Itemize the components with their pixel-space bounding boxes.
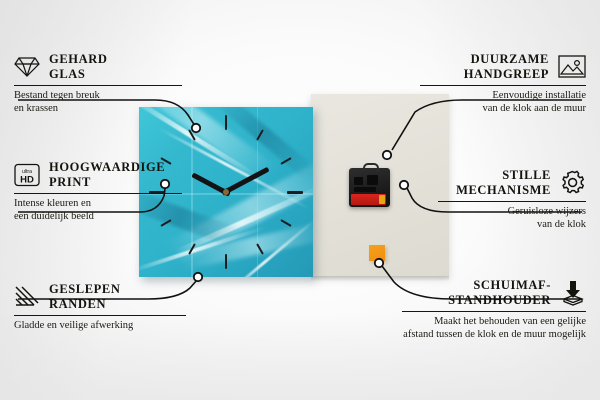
clock-mechanism	[349, 168, 390, 207]
feature-divider	[420, 85, 586, 86]
feature-title: GEHARD GLAS	[49, 52, 107, 81]
feature-geslepen-randen: GESLEPEN RANDEN Gladde en veilige afwerk…	[14, 282, 186, 333]
clock-center-cap	[223, 189, 229, 195]
feature-description: Intense kleuren en een duidelijk beeld	[14, 198, 182, 223]
diamond-icon	[14, 56, 40, 78]
clock-tick-12	[225, 115, 227, 130]
mechanism-slot	[354, 187, 376, 192]
feature-stille-mechanisme: STILLE MECHANISME Geruisloze wijzers van…	[438, 168, 586, 231]
mechanism-slot	[367, 175, 378, 185]
bevelled-edge-icon	[14, 286, 40, 308]
feature-title: STILLE MECHANISME	[456, 168, 551, 197]
picture-frame-icon	[558, 55, 586, 78]
feature-hoogwaardige-print: ultra HD HOOGWAARDIGE PRINT Intense kleu…	[14, 160, 182, 223]
clock-tick-3	[287, 191, 303, 194]
mechanism-battery	[351, 194, 386, 205]
feature-description: Geruisloze wijzers van de klok	[438, 206, 586, 231]
feature-description: Eenvoudige installatie van de klok aan d…	[420, 90, 586, 115]
feature-title: DUURZAME HANDGREEP	[464, 52, 549, 81]
svg-text:HD: HD	[20, 174, 34, 185]
infographic-canvas: GEHARD GLAS Bestand tegen breuk en krass…	[0, 0, 600, 400]
press-down-arrow-icon	[560, 280, 586, 306]
battery-positive-terminal	[379, 195, 385, 204]
ultra-hd-icon: ultra HD	[14, 163, 40, 187]
feature-title: GESLEPEN RANDEN	[49, 282, 121, 311]
feature-schuimaf-standhouder: SCHUIMAF- STANDHOUDER Maakt het behouden…	[402, 278, 586, 341]
clock-tick-4	[280, 219, 291, 227]
feature-title: SCHUIMAF- STANDHOUDER	[448, 278, 551, 307]
clock-tick-6	[225, 254, 227, 269]
feature-divider	[14, 193, 182, 194]
feature-heading: SCHUIMAF- STANDHOUDER	[402, 278, 586, 307]
feature-heading: GEHARD GLAS	[14, 52, 182, 81]
feature-heading: DUURZAME HANDGREEP	[420, 52, 586, 81]
feature-heading: STILLE MECHANISME	[438, 168, 586, 197]
feature-description: Gladde en veilige afwerking	[14, 320, 186, 333]
feature-description: Bestand tegen breuk en krassen	[14, 90, 182, 115]
mechanism-slot	[354, 177, 363, 185]
feature-divider	[402, 311, 586, 312]
feature-divider	[14, 85, 182, 86]
feature-divider	[438, 201, 586, 202]
feature-description: Maakt het behouden van een gelijke afsta…	[402, 316, 586, 341]
feature-heading: GESLEPEN RANDEN	[14, 282, 186, 311]
feature-divider	[14, 315, 186, 316]
foam-spacer	[369, 245, 385, 261]
feature-title: HOOGWAARDIGE PRINT	[49, 160, 165, 189]
gear-icon	[560, 170, 586, 195]
feature-duurzame-handgreep: DUURZAME HANDGREEP Eenvoudige installati…	[420, 52, 586, 115]
feature-heading: ultra HD HOOGWAARDIGE PRINT	[14, 160, 182, 189]
mechanism-hanger-hook	[363, 163, 379, 172]
feature-gehard-glas: GEHARD GLAS Bestand tegen breuk en krass…	[14, 52, 182, 115]
